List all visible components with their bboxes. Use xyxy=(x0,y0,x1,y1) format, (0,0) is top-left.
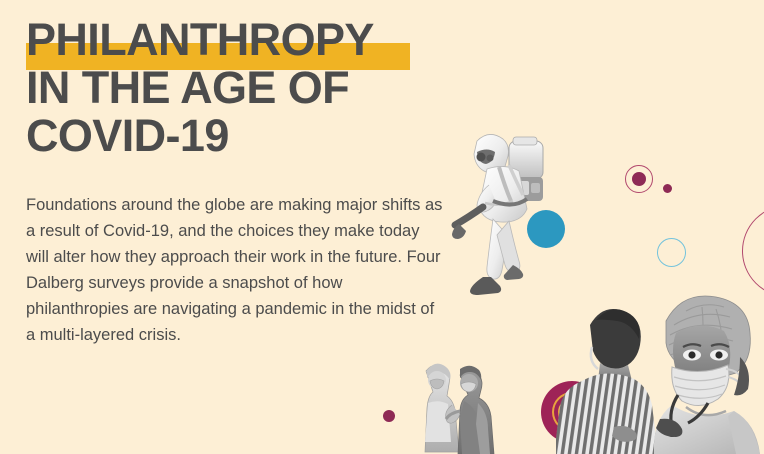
masked-women-photo xyxy=(408,357,506,454)
headline-line-3: COVID-19 xyxy=(26,112,456,160)
small-dot-upper-icon xyxy=(663,184,672,193)
small-dot-lower-icon xyxy=(383,410,395,422)
intro-paragraph: Foundations around the globe are making … xyxy=(26,192,446,348)
hazmat-sprayer-photo xyxy=(447,127,567,312)
headline-line-1: PHILANTHROPY xyxy=(26,16,456,64)
page-title: PHILANTHROPY IN THE AGE OF COVID-19 xyxy=(26,16,456,160)
teal-ring-icon xyxy=(657,238,686,267)
clinic-photo xyxy=(556,285,764,454)
poster-canvas: PHILANTHROPY IN THE AGE OF COVID-19 Foun… xyxy=(0,0,764,454)
dot-in-ring-center-icon xyxy=(632,172,646,186)
headline-line-2: IN THE AGE OF xyxy=(26,64,456,112)
large-magenta-ring-icon xyxy=(742,205,764,297)
